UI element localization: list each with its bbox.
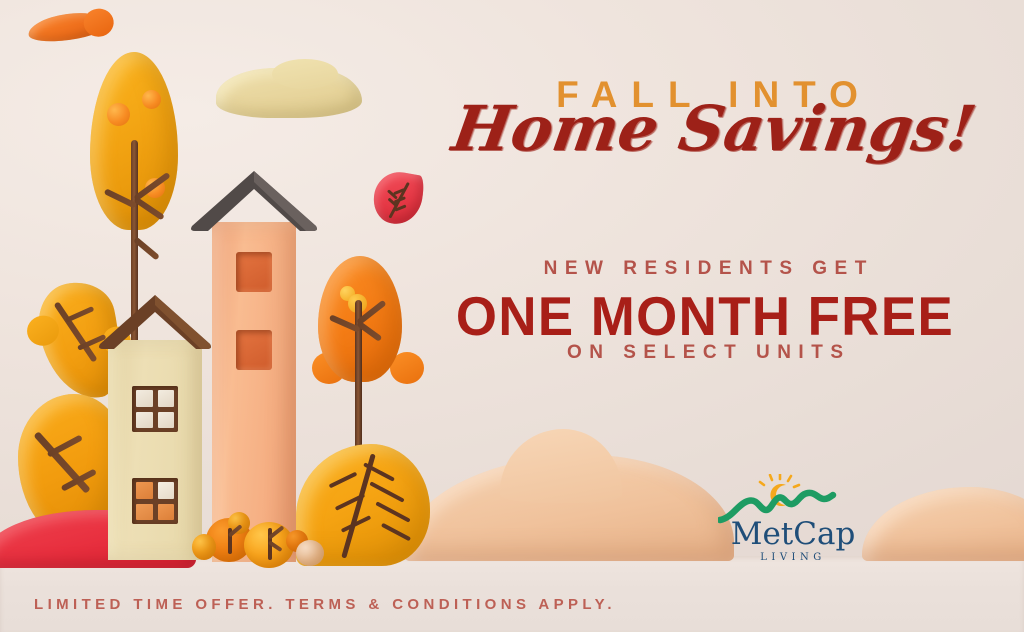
promo-banner: FALL INTO Home Savings! NEW RESIDENTS GE…: [0, 0, 1024, 632]
subheading-new-residents: NEW RESIDENTS GET: [430, 258, 980, 280]
leaf-rib: [375, 501, 410, 522]
offer-headline: ONE MONTH FREE: [441, 288, 969, 346]
tree-berry: [107, 103, 130, 126]
house-window-lower: [132, 478, 178, 524]
orange-blob-icon: [27, 9, 110, 46]
building-window-upper: [236, 252, 272, 292]
red-leaf-icon: [370, 168, 426, 228]
headline-home-savings: Home Savings!: [425, 98, 1003, 160]
metcap-logo[interactable]: MetCap LIVING: [718, 474, 868, 566]
tree-berry: [142, 90, 161, 109]
building-window-lower: [236, 330, 272, 370]
house-body: [108, 340, 202, 560]
leaf-rib: [329, 472, 358, 489]
pumpkin-small: [192, 534, 216, 560]
metcap-tagline: LIVING: [760, 552, 826, 563]
cream-cloud-icon: [216, 68, 362, 118]
disclaimer-text: LIMITED TIME OFFER. TERMS & CONDITIONS A…: [34, 596, 616, 613]
subheading-select-units: ON SELECT UNITS: [430, 342, 980, 364]
pumpkin-pale: [296, 540, 324, 566]
metcap-logo-svg: MetCap LIVING: [718, 474, 868, 566]
leaf-rib: [369, 481, 404, 502]
building-roof: [188, 168, 320, 234]
house-roof: [96, 292, 214, 354]
metcap-wordmark: MetCap: [731, 516, 856, 552]
leaf-rib: [381, 523, 411, 542]
house-window-upper: [132, 386, 178, 432]
